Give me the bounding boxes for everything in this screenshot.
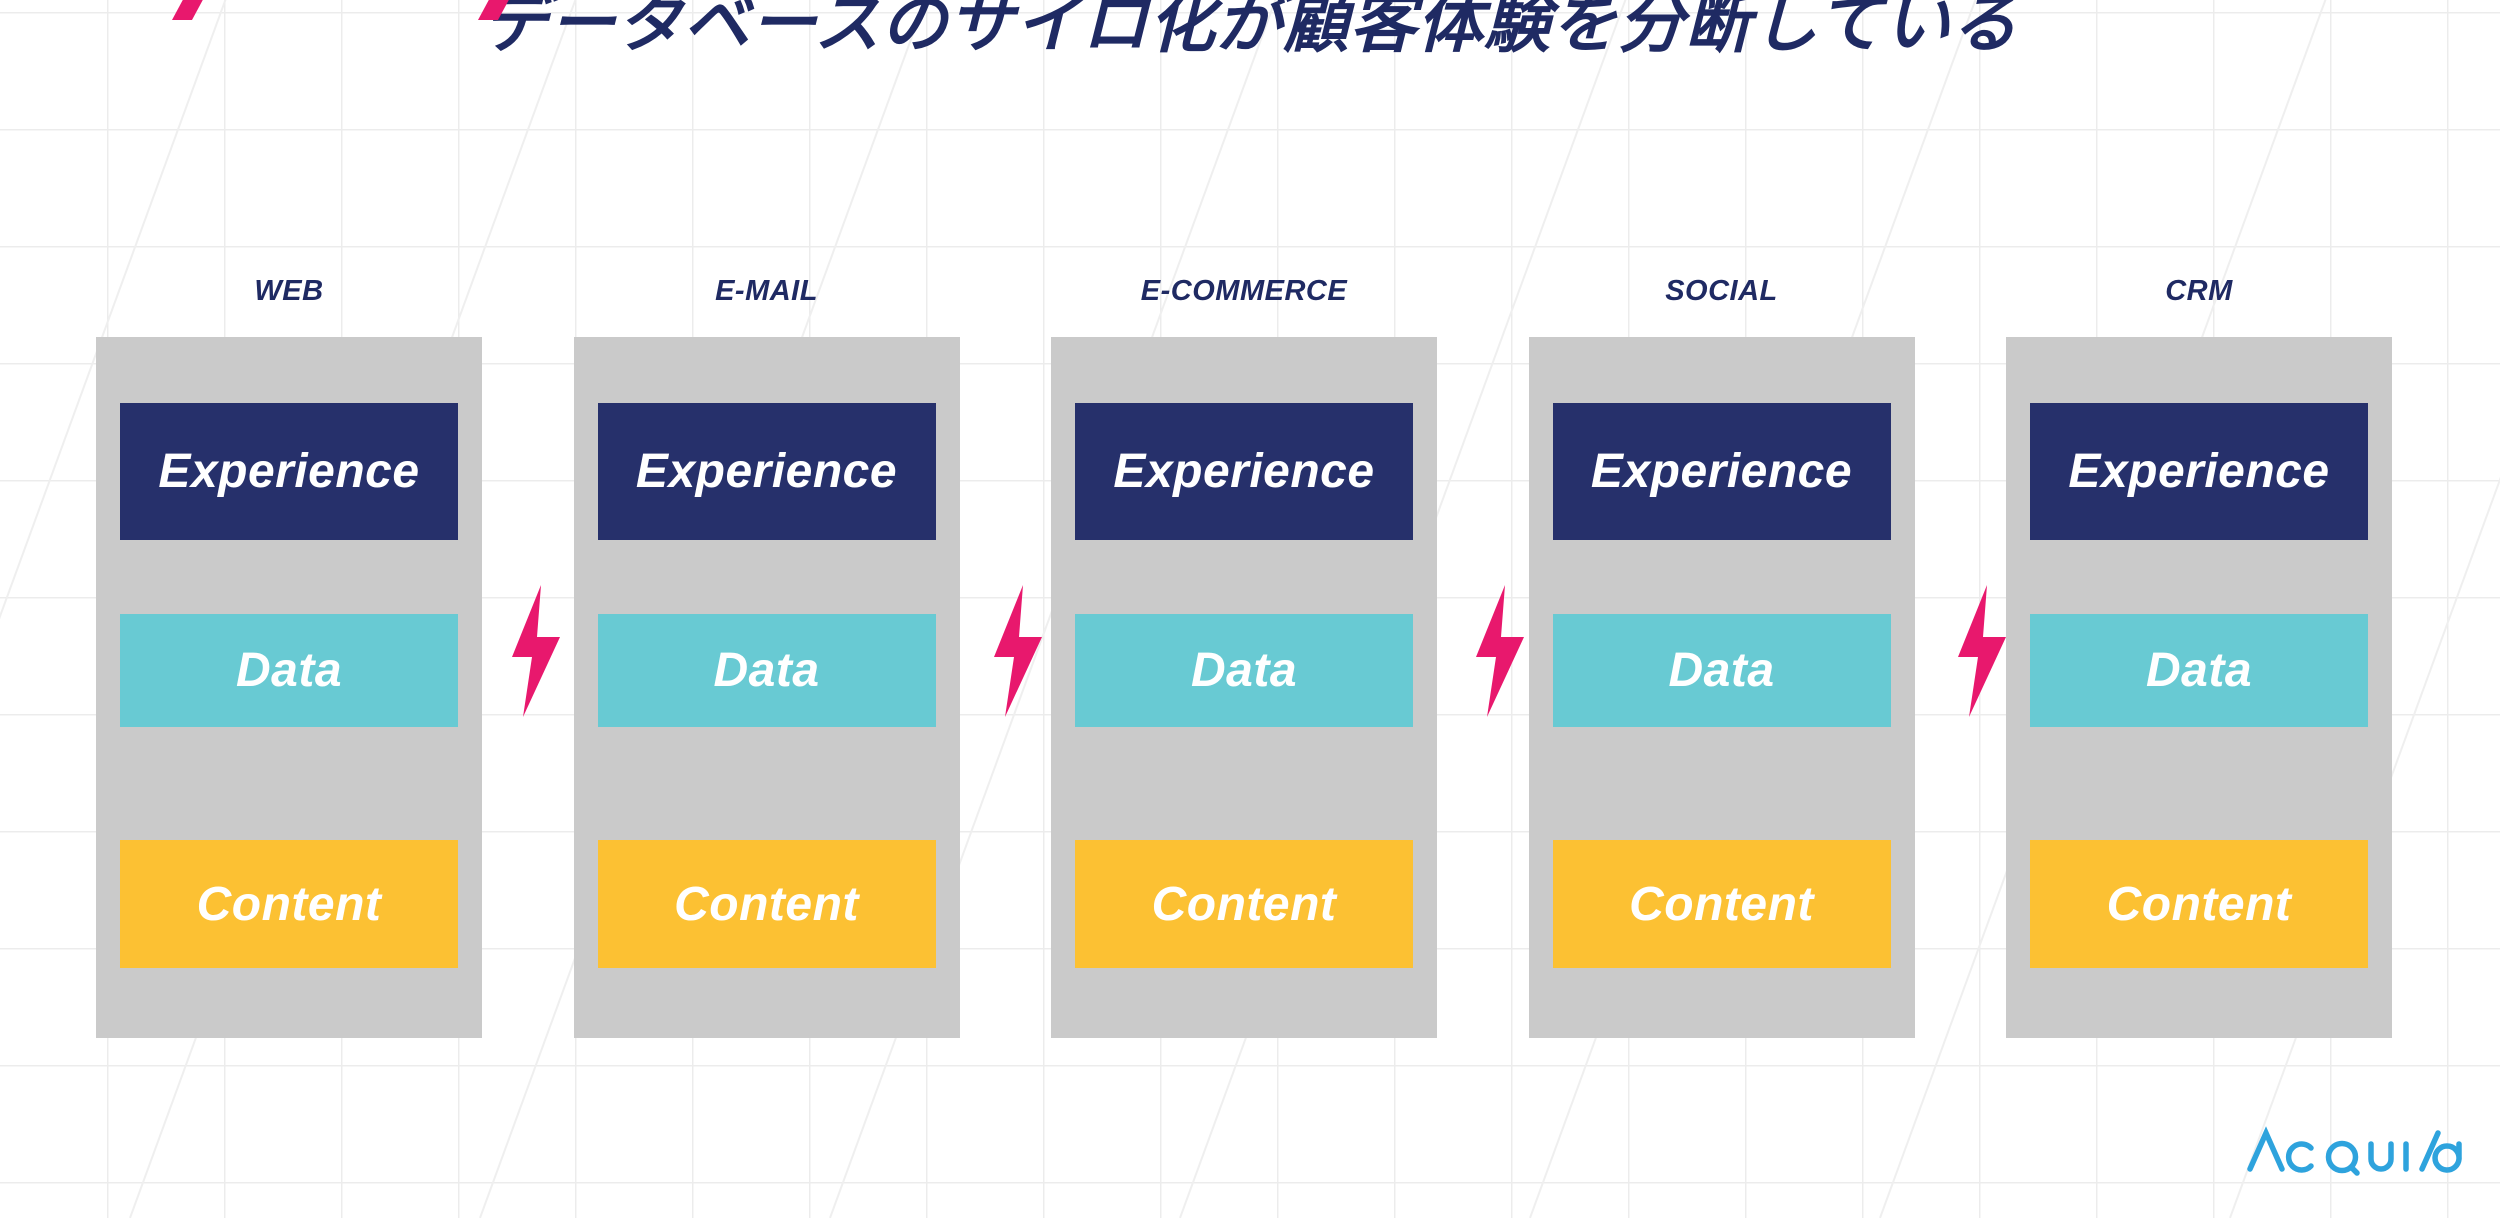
lightning-bolt-icon: [989, 585, 1045, 717]
layer-content: Content: [2030, 840, 2368, 968]
silo-column-social[interactable]: SOCIAL Experience Data Content: [1529, 337, 1915, 1038]
crop-mark-pink-left: [172, 0, 212, 20]
layer-content: Content: [120, 840, 458, 968]
layer-data: Data: [120, 614, 458, 727]
layer-data: Data: [1075, 614, 1413, 727]
layer-experience: Experience: [1075, 403, 1413, 540]
silo-header-ecommerce: E-COMMERCE: [1051, 275, 1437, 308]
layer-data: Data: [598, 614, 936, 727]
silo-columns: WEB Experience Data Content E-MAIL Exper…: [96, 337, 2392, 1038]
crop-mark-pink-right: [478, 0, 518, 20]
silo-column-crm[interactable]: CRM Experience Data Content: [2006, 337, 2392, 1038]
lightning-bolt-icon: [507, 585, 563, 717]
slide-title: データベースのサイロ化が顧客体験を分断している: [0, 0, 2500, 65]
silo-column-ecommerce[interactable]: E-COMMERCE Experience Data Content: [1051, 337, 1437, 1038]
silo-header-social: SOCIAL: [1529, 275, 1915, 308]
acquia-logo: [2247, 1124, 2462, 1176]
lightning-bolt-icon: [1953, 585, 2009, 717]
layer-experience: Experience: [120, 403, 458, 540]
layer-experience: Experience: [2030, 403, 2368, 540]
silo-column-email[interactable]: E-MAIL Experience Data Content: [574, 337, 960, 1038]
layer-content: Content: [1553, 840, 1891, 968]
layer-experience: Experience: [598, 403, 936, 540]
silo-column-web[interactable]: WEB Experience Data Content: [96, 337, 482, 1038]
silo-header-web: WEB: [96, 275, 482, 308]
lightning-bolt-icon: [1471, 585, 1527, 717]
silo-header-crm: CRM: [2006, 275, 2392, 308]
layer-content: Content: [598, 840, 936, 968]
layer-content: Content: [1075, 840, 1413, 968]
layer-data: Data: [2030, 614, 2368, 727]
layer-experience: Experience: [1553, 403, 1891, 540]
silo-header-email: E-MAIL: [574, 275, 960, 308]
layer-data: Data: [1553, 614, 1891, 727]
